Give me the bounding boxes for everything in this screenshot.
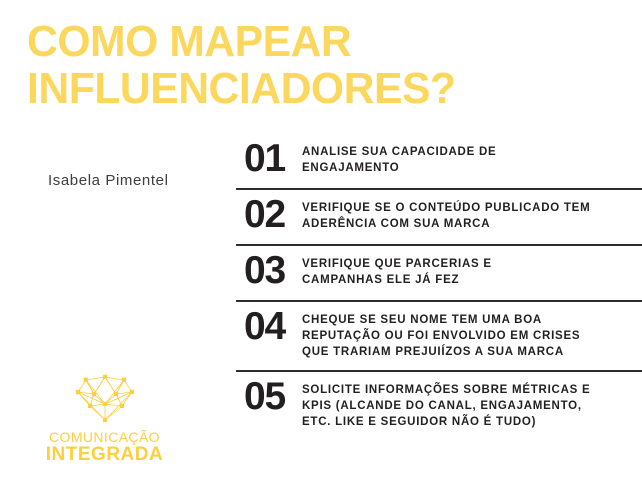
list-item-number: 02 (236, 196, 302, 234)
list-item: 02 VERIFIQUE SE O CONTEÚDO PUBLICADO TEM… (236, 190, 642, 244)
list-item-number: 03 (236, 252, 302, 290)
list-item-text: CHEQUE SE SEU NOME TEM UMA BOA REPUTAÇÃO… (302, 308, 642, 360)
list-item-number: 05 (236, 378, 302, 416)
list-item-text: ANALISE SUA CAPACIDADE DE ENGAJAMENTO (302, 140, 642, 176)
slide-canvas: COMO MAPEAR INFLUENCIADORES? Isabela Pim… (0, 0, 642, 482)
author-name: Isabela Pimentel (48, 172, 169, 189)
page-title: COMO MAPEAR INFLUENCIADORES? (27, 18, 587, 112)
numbered-list: 01 ANALISE SUA CAPACIDADE DE ENGAJAMENTO… (236, 134, 642, 440)
list-item-text: VERIFIQUE SE O CONTEÚDO PUBLICADO TEM AD… (302, 196, 642, 232)
brand-logo: COMUNICAÇÃO INTEGRADA (37, 368, 172, 466)
title-line-1: COMO MAPEAR (27, 18, 570, 65)
heart-network-icon (72, 368, 138, 426)
list-item: 03 VERIFIQUE QUE PARCERIAS E CAMPANHAS E… (236, 246, 642, 300)
list-item: 05 SOLICITE INFORMAÇÕES SOBRE MÉTRICAS E… (236, 372, 642, 440)
list-item-number: 04 (236, 308, 302, 346)
list-item: 01 ANALISE SUA CAPACIDADE DE ENGAJAMENTO (236, 134, 642, 188)
list-item-text: VERIFIQUE QUE PARCERIAS E CAMPANHAS ELE … (302, 252, 642, 288)
logo-text-line-2: INTEGRADA (37, 444, 172, 466)
list-item-text: SOLICITE INFORMAÇÕES SOBRE MÉTRICAS E KP… (302, 378, 642, 430)
list-item: 04 CHEQUE SE SEU NOME TEM UMA BOA REPUTA… (236, 302, 642, 370)
logo-text-line-1: COMUNICAÇÃO (37, 429, 172, 445)
title-line-2: INFLUENCIADORES? (27, 65, 570, 112)
list-item-number: 01 (236, 140, 302, 178)
